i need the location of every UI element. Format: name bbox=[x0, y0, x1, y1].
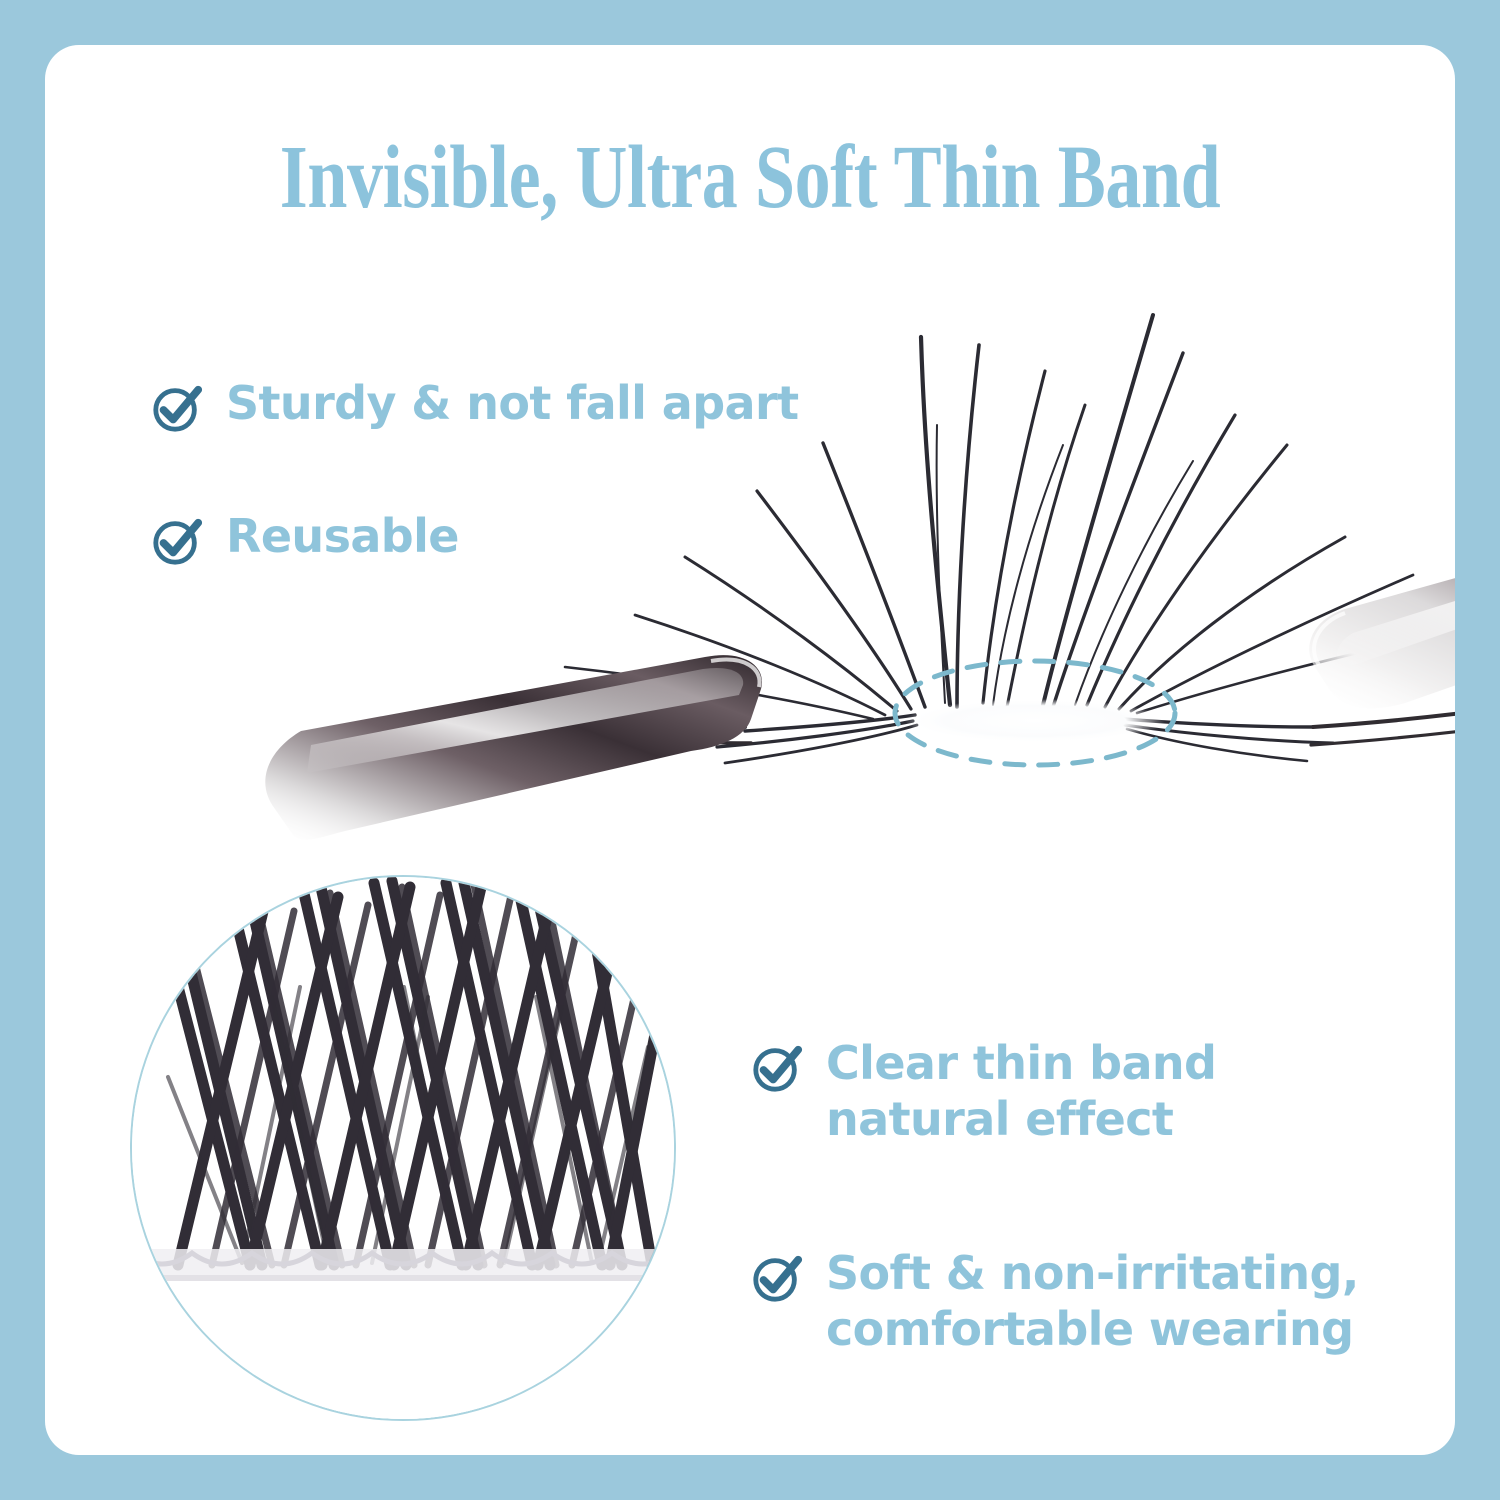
outer-border-frame: Invisible, Ultra Soft Thin Band bbox=[0, 0, 1500, 1500]
feature-label: Soft & non-irritating, comfortable weari… bbox=[826, 1245, 1359, 1357]
feature-item-clear-band: Clear thin band natural effect bbox=[750, 1035, 1216, 1147]
feature-label: Sturdy & not fall apart bbox=[226, 375, 798, 431]
feature-label: Reusable bbox=[226, 508, 459, 564]
feature-item-soft: Soft & non-irritating, comfortable weari… bbox=[750, 1245, 1359, 1357]
feature-item-reusable: Reusable bbox=[150, 508, 459, 568]
tweezer-right bbox=[1309, 521, 1455, 708]
content-panel: Invisible, Ultra Soft Thin Band bbox=[45, 45, 1455, 1455]
check-circle-icon bbox=[150, 514, 204, 568]
page-title: Invisible, Ultra Soft Thin Band bbox=[186, 133, 1314, 223]
clear-band bbox=[905, 699, 1165, 743]
check-circle-icon bbox=[150, 381, 204, 435]
main-product-image bbox=[45, 275, 1455, 875]
feature-item-sturdy: Sturdy & not fall apart bbox=[150, 375, 798, 435]
check-circle-icon bbox=[750, 1041, 804, 1095]
check-circle-icon bbox=[750, 1251, 804, 1305]
lash-macro-inset bbox=[130, 875, 676, 1421]
clear-band-base bbox=[132, 1249, 674, 1281]
tweezer-left bbox=[265, 655, 762, 840]
feature-label: Clear thin band natural effect bbox=[826, 1035, 1216, 1147]
